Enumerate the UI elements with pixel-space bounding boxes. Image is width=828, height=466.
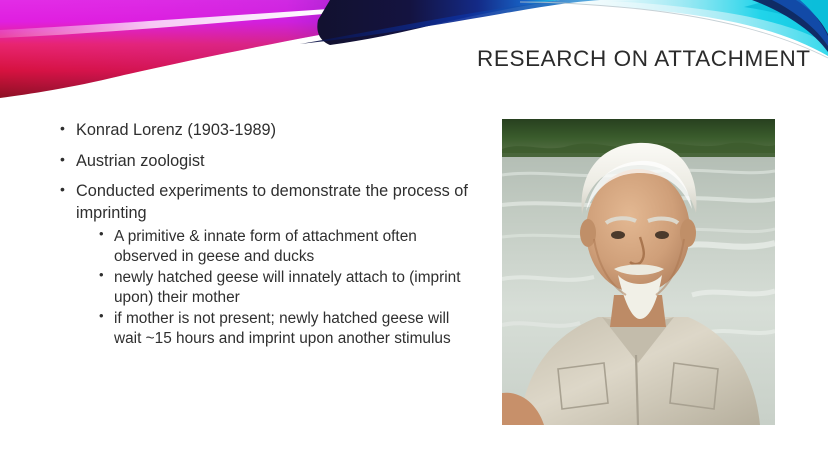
swoosh-cyan-core: [744, 0, 828, 30]
photo-eye-left: [611, 231, 625, 239]
list-item: A primitive & innate form of attachment …: [97, 227, 470, 267]
bullet-text: Conducted experiments to demonstrate the…: [76, 182, 468, 222]
sub-bullet-text: newly hatched geese will innately attach…: [114, 269, 460, 306]
bullet-list-level2: A primitive & innate form of attachment …: [97, 227, 470, 349]
list-item: Austrian zoologist: [58, 151, 470, 173]
swoosh-magenta-band: [0, 0, 520, 98]
swoosh-navy-blade: [317, 0, 560, 45]
photo-eye-right: [655, 231, 669, 239]
swoosh-highlight-stripe: [0, 0, 500, 38]
bullet-text: Konrad Lorenz (1903-1989): [76, 121, 276, 139]
photo-ear-left: [580, 219, 596, 247]
content-text-block: Konrad Lorenz (1903-1989) Austrian zoolo…: [58, 120, 470, 351]
page-title: RESEARCH ON ATTACHMENT: [477, 46, 807, 72]
list-item: newly hatched geese will innately attach…: [97, 268, 470, 308]
swoosh-topright-navy-streak: [752, 0, 828, 52]
swoosh-topright-blue-streak: [772, 0, 828, 46]
sub-bullet-text: if mother is not present; newly hatched …: [114, 310, 451, 347]
list-item: Conducted experiments to demonstrate the…: [58, 181, 470, 349]
list-item: if mother is not present; newly hatched …: [97, 309, 470, 349]
swoosh-navy-thin-blade: [300, 0, 600, 44]
portrait-illustration: [502, 119, 775, 425]
slide-canvas: RESEARCH ON ATTACHMENT Konrad Lorenz (19…: [0, 0, 828, 466]
swoosh-cyan-inner-curve: [606, 0, 828, 44]
konrad-lorenz-portrait: [502, 119, 775, 425]
list-item: Konrad Lorenz (1903-1989): [58, 120, 470, 142]
bullet-text: Austrian zoologist: [76, 152, 205, 170]
sub-bullet-text: A primitive & innate form of attachment …: [114, 228, 417, 265]
bullet-list-level1: Konrad Lorenz (1903-1989) Austrian zoolo…: [58, 120, 470, 349]
swoosh-color-shift-overlay: [0, 0, 520, 98]
